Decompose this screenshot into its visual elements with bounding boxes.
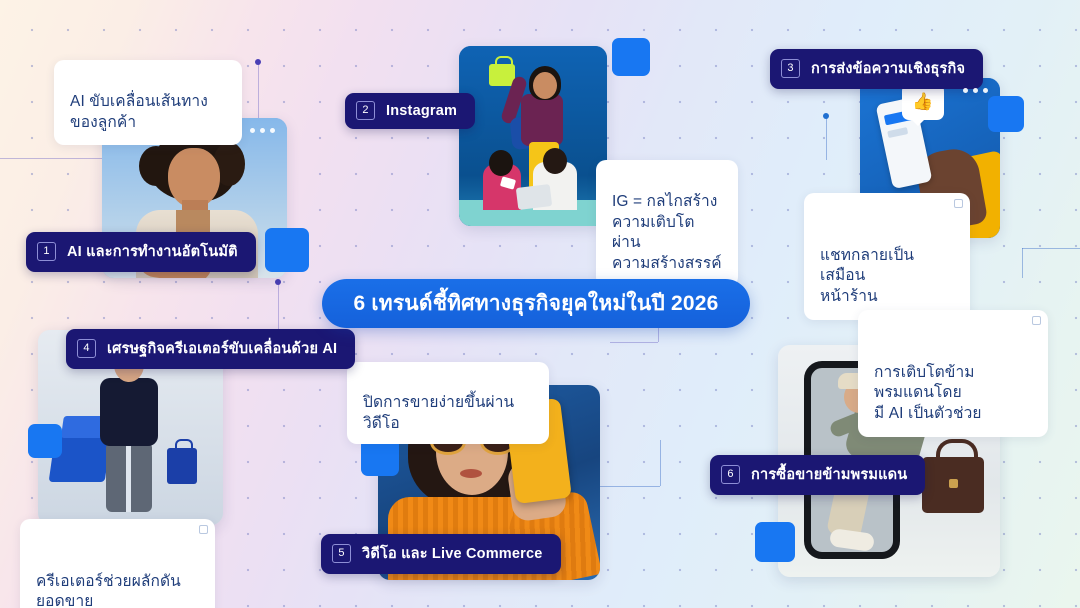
- connector-line: [1022, 248, 1023, 278]
- menu-dots-icon[interactable]: [250, 128, 275, 133]
- badge-number: 3: [781, 59, 800, 78]
- callout-chat-storefront: แชทกลายเป็นเสมือน หน้าร้าน: [804, 193, 970, 320]
- badge-number: 4: [77, 339, 96, 358]
- badge-trend-6[interactable]: 6 การซื้อขายข้ามพรมแดน: [710, 455, 925, 495]
- callout-text: AI ขับเคลื่อนเส้นทาง ของลูกค้า: [70, 93, 208, 131]
- accent-square: [755, 522, 795, 562]
- callout-ai-customer-journey: AI ขับเคลื่อนเส้นทาง ของลูกค้า: [54, 60, 242, 145]
- page-title: 6 เทรนด์ชี้ทิศทางธุรกิจยุคใหม่ในปี 2026: [322, 279, 750, 328]
- badge-label: Instagram: [386, 103, 457, 119]
- connector-line: [258, 62, 259, 122]
- badge-trend-5[interactable]: 5 วิดีโอ และ Live Commerce: [321, 534, 561, 574]
- callout-cross-border-ai-growth: การเติบโตข้ามพรมแดนโดย มี AI เป็นตัวช่วย: [858, 310, 1048, 437]
- connector-node: [255, 59, 261, 65]
- callout-text: การเติบโตข้ามพรมแดนโดย มี AI เป็นตัวช่วย: [874, 364, 982, 423]
- badge-trend-2[interactable]: 2 Instagram: [345, 93, 475, 129]
- menu-dots-icon[interactable]: [963, 88, 988, 93]
- badge-trend-3[interactable]: 3 การส่งข้อความเชิงธุรกิจ: [770, 49, 983, 89]
- accent-square: [28, 424, 62, 458]
- callout-ig-growth-engine: IG = กลไกสร้าง ความเติบโตผ่าน ความสร้างส…: [596, 160, 738, 287]
- connector-line: [600, 486, 660, 487]
- connector-line: [660, 440, 661, 486]
- callout-creators-drive-sales: ครีเอเตอร์ช่วยผลักดัน ยอดขาย: [20, 519, 215, 608]
- accent-square: [265, 228, 309, 272]
- callout-video-closes-sales: ปิดการขายง่ายขึ้นผ่านวิดีโอ: [347, 362, 549, 444]
- connector-line: [1022, 248, 1080, 249]
- resize-corner-icon: [954, 199, 963, 208]
- badge-number: 5: [332, 544, 351, 563]
- callout-text: ปิดการขายง่ายขึ้นผ่านวิดีโอ: [363, 394, 514, 432]
- badge-number: 6: [721, 465, 740, 484]
- callout-text: ครีเอเตอร์ช่วยผลักดัน ยอดขาย: [36, 573, 181, 608]
- accent-square: [612, 38, 650, 76]
- badge-label: การส่งข้อความเชิงธุรกิจ: [811, 57, 965, 80]
- badge-label: วิดีโอ และ Live Commerce: [362, 542, 543, 565]
- badge-trend-4[interactable]: 4 เศรษฐกิจครีเอเตอร์ขับเคลื่อนด้วย AI: [66, 329, 355, 369]
- photo-instagram-shoppers: [459, 46, 607, 226]
- connector-node: [823, 113, 829, 119]
- thumbs-up-icon: 👍: [902, 84, 944, 120]
- resize-corner-icon: [1032, 316, 1041, 325]
- page-title-text: 6 เทรนด์ชี้ทิศทางธุรกิจยุคใหม่ในปี 2026: [353, 287, 718, 320]
- badge-trend-1[interactable]: 1 AI และการทำงานอัตโนมัติ: [26, 232, 256, 272]
- badge-label: เศรษฐกิจครีเอเตอร์ขับเคลื่อนด้วย AI: [107, 337, 337, 360]
- badge-number: 1: [37, 242, 56, 261]
- callout-text: IG = กลไกสร้าง ความเติบโตผ่าน ความสร้างส…: [612, 193, 722, 272]
- callout-text: แชทกลายเป็นเสมือน หน้าร้าน: [820, 247, 914, 306]
- badge-number: 2: [356, 101, 375, 120]
- resize-corner-icon: [199, 525, 208, 534]
- connector-node: [275, 279, 281, 285]
- connector-line: [610, 342, 658, 343]
- accent-square: [988, 96, 1024, 132]
- infographic-canvas: 👍 AI ขับเคลื่อนเส้นทาง ของลูกค้า IG = กล…: [0, 0, 1080, 608]
- badge-label: การซื้อขายข้ามพรมแดน: [751, 463, 907, 486]
- badge-label: AI และการทำงานอัตโนมัติ: [67, 240, 238, 263]
- connector-line: [826, 116, 827, 160]
